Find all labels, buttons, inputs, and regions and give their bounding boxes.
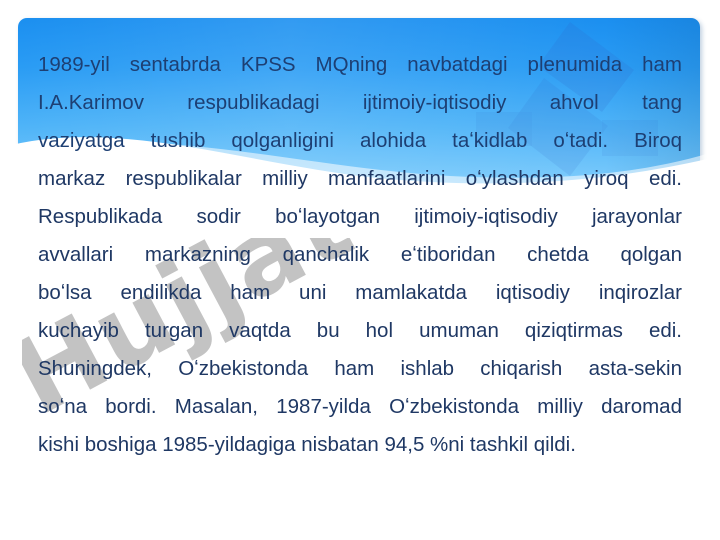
text-line: I.A.Karimov respublikadagi ijtimoiy-iqti…	[38, 84, 682, 122]
text-line: avvallari markazning qanchalik eʻtiborid…	[38, 236, 682, 274]
text-line: vaziyatga tushib qolganligini alohida ta…	[38, 122, 682, 160]
text-line: Respublikada sodir boʻlayotgan ijtimoiy-…	[38, 198, 682, 236]
text-line: boʻlsa endilikda ham uni mamlakatda iqti…	[38, 274, 682, 312]
text-line: kuchayib turgan vaqtda bu hol umuman qiz…	[38, 312, 682, 350]
text-line: 1989-yil sentabrda KPSS MQning navbatdag…	[38, 46, 682, 84]
text-line: markaz respublikalar milliy manfaatlarin…	[38, 160, 682, 198]
text-line: Shuningdek, Oʻzbekistonda ham ishlab chi…	[38, 350, 682, 388]
body-text-block: 1989-yil sentabrda KPSS MQning navbatdag…	[38, 46, 682, 464]
presentation-slide: Hujjat 1989-yil sentabrda KPSS MQning na…	[0, 0, 720, 540]
text-line: kishi boshiga 1985-yildagiga nisbatan 94…	[38, 426, 682, 464]
text-line: soʻna bordi. Masalan, 1987-yilda Oʻzbeki…	[38, 388, 682, 426]
